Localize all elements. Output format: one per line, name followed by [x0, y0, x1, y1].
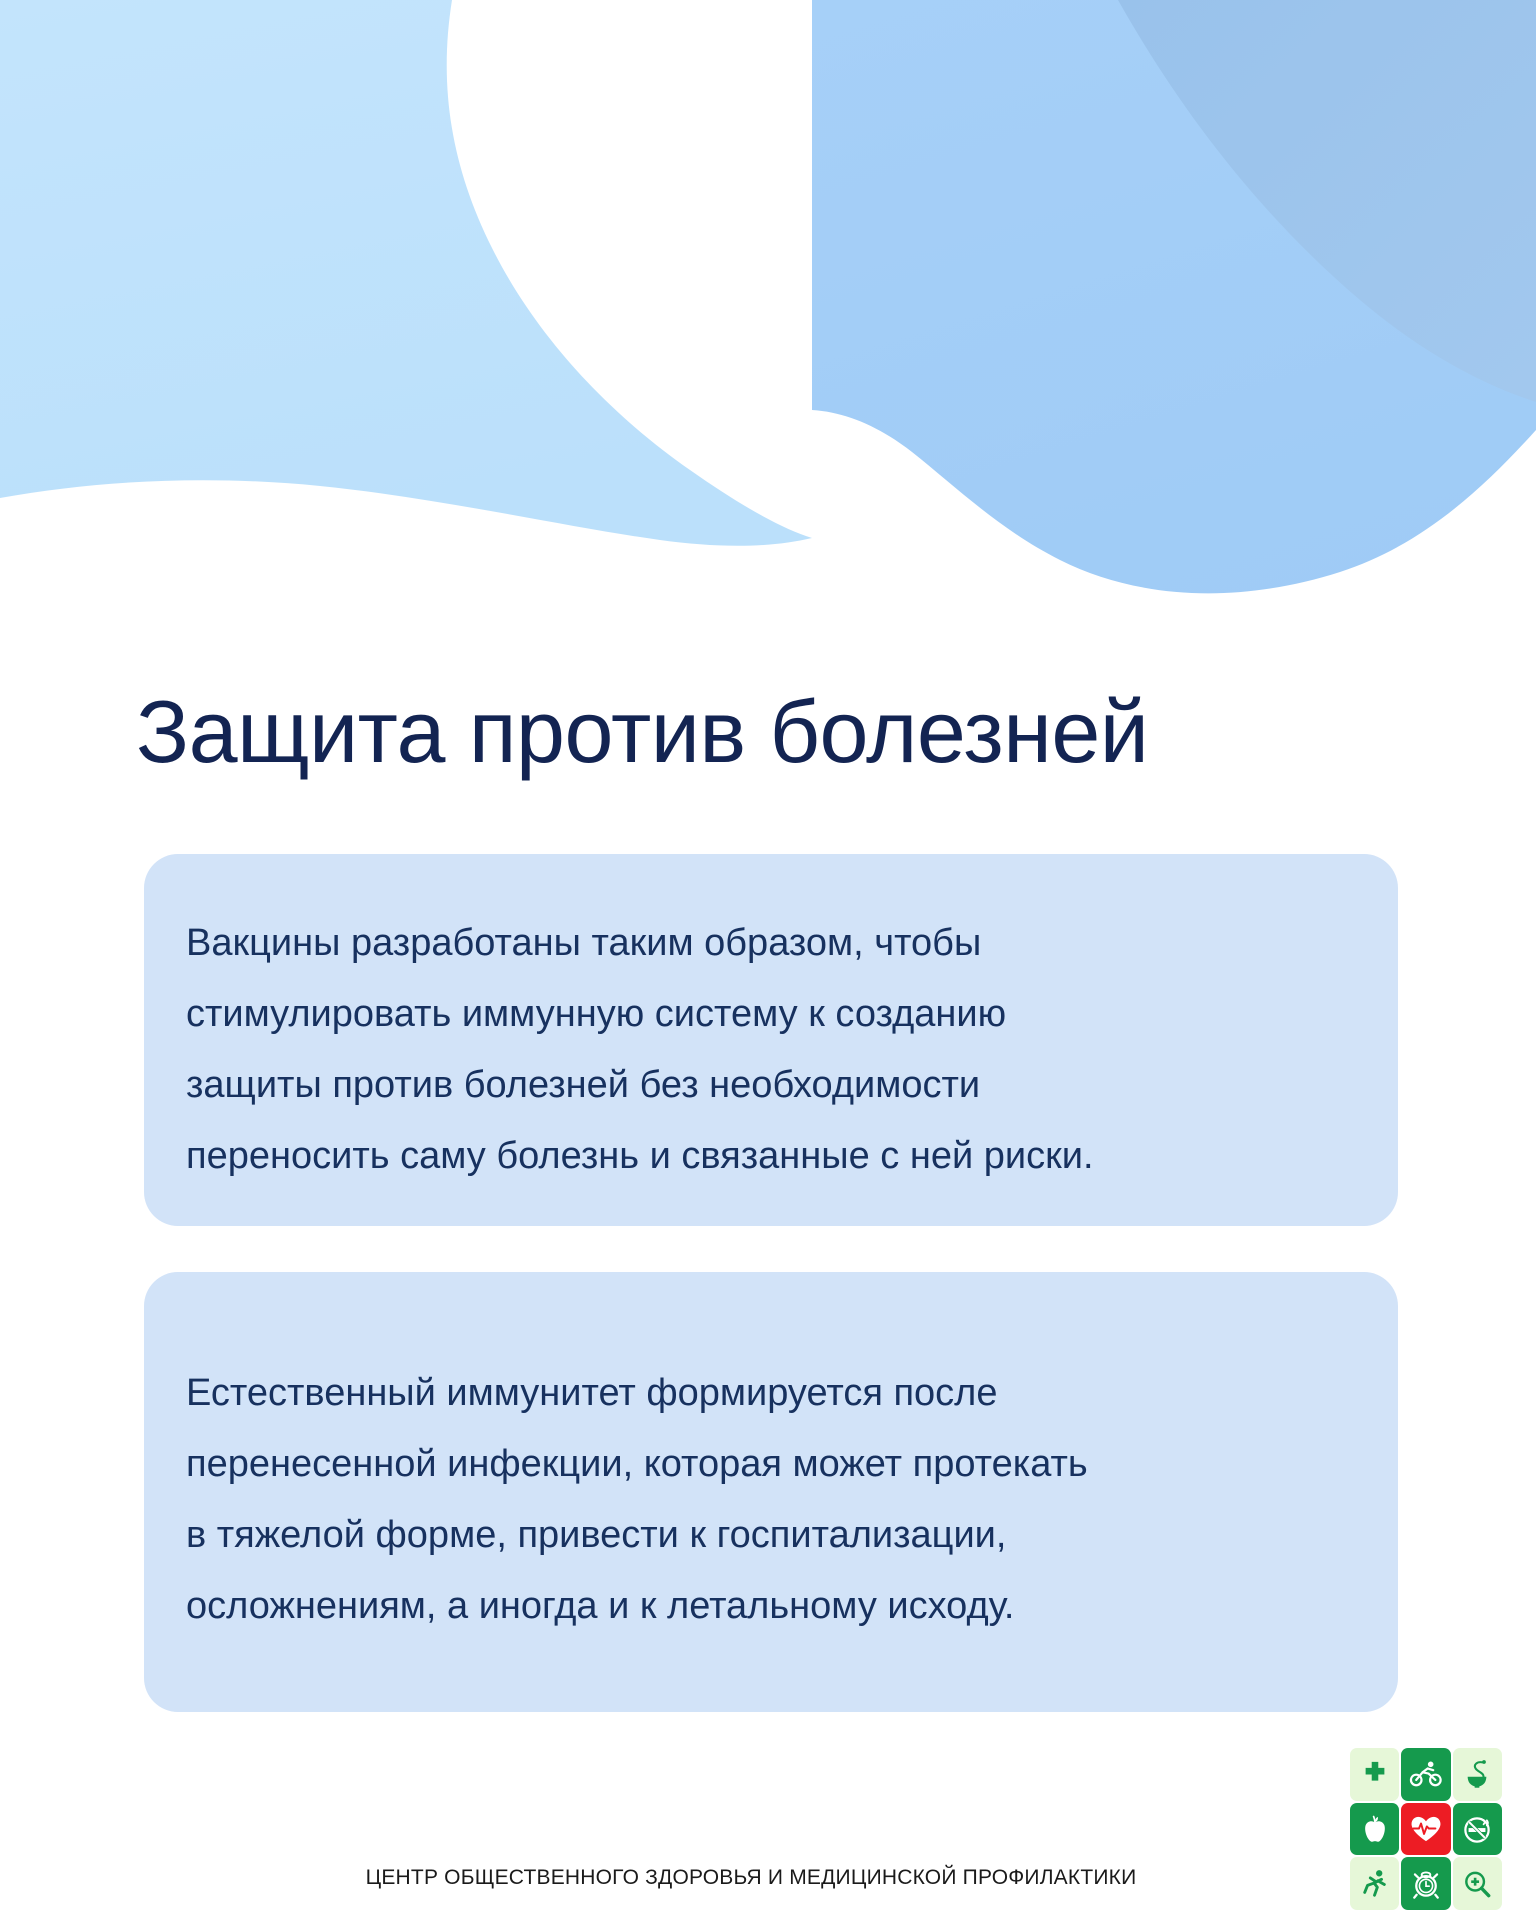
magnifier-plus-icon	[1462, 1869, 1492, 1899]
cyclist-icon	[1409, 1759, 1443, 1789]
logo-tile-runner	[1350, 1857, 1399, 1910]
logo-tile-bowl-of-hygieia	[1453, 1748, 1502, 1801]
page-title: Защита против болезней	[136, 686, 1148, 778]
apple-icon	[1361, 1814, 1389, 1844]
logo-tile-medical-cross	[1350, 1748, 1399, 1801]
vaccines-info-text: Вакцины разработаны таким образом, чтобы…	[186, 908, 1352, 1192]
logo-tile-alarm-clock	[1401, 1857, 1450, 1910]
heart-pulse-icon	[1410, 1815, 1442, 1843]
no-smoking-icon	[1462, 1814, 1492, 1844]
header-wave-decoration	[0, 0, 1536, 620]
public-health-center-logo	[1350, 1748, 1502, 1910]
logo-tile-heart-pulse	[1401, 1803, 1450, 1856]
footer-caption: ЦЕНТР ОБЩЕСТВЕННОГО ЗДОРОВЬЯ И МЕДИЦИНСК…	[0, 1866, 1536, 1890]
logo-tile-no-smoking	[1453, 1803, 1502, 1856]
logo-tile-cyclist	[1401, 1748, 1450, 1801]
alarm-clock-icon	[1411, 1869, 1441, 1899]
vaccines-info-card: Вакцины разработаны таким образом, чтобы…	[144, 854, 1398, 1226]
bowl-of-hygieia-icon	[1463, 1759, 1491, 1789]
logo-tile-apple	[1350, 1803, 1399, 1856]
wave-dark	[1118, 0, 1536, 402]
runner-icon	[1361, 1869, 1389, 1899]
poster-root: Защита против болезней Вакцины разработа…	[0, 0, 1536, 1920]
medical-cross-icon	[1360, 1759, 1390, 1789]
wave-light	[0, 0, 812, 546]
logo-tile-magnifier-plus	[1453, 1857, 1502, 1910]
natural-immunity-card: Естественный иммунитет формируется после…	[144, 1272, 1398, 1712]
wave-medium	[0, 0, 1536, 593]
natural-immunity-text: Естественный иммунитет формируется после…	[186, 1358, 1352, 1642]
